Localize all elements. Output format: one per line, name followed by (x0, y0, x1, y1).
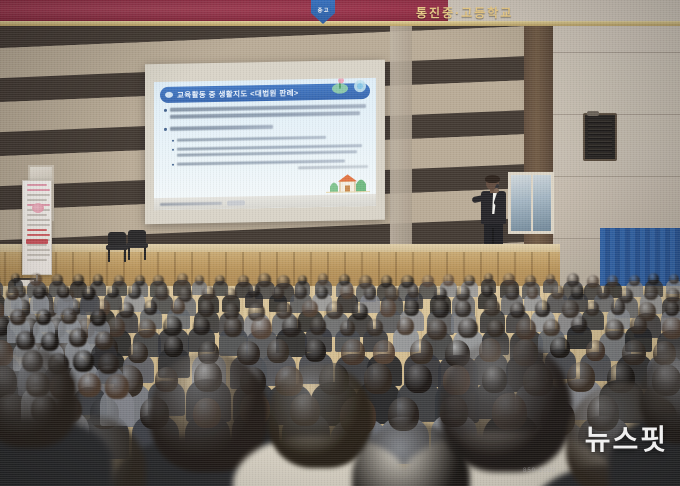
audience-member-head (36, 309, 52, 325)
audience-member-head (432, 299, 449, 317)
audience-member-head (340, 284, 354, 299)
audience-member-head (503, 273, 515, 286)
audience-member-head (326, 301, 343, 319)
audience-member-head (171, 299, 185, 314)
audience-member-head (456, 285, 471, 301)
audience-member-head (318, 273, 329, 284)
audience-member-head (114, 275, 124, 286)
audience-member-head (199, 300, 214, 317)
sub-bullet-marker-icon (172, 164, 174, 166)
audience-member-head (202, 286, 215, 300)
banner-text-line (27, 199, 47, 201)
banner-text-line (27, 229, 47, 231)
audience-member-head (302, 300, 317, 316)
press-photo: 중·고 통진중·고등학교 교육활동 중 생활지도 <대법원 판례> (0, 0, 680, 486)
audience-member-head (6, 287, 19, 301)
audience-member-head (0, 348, 78, 448)
audience-member-head (665, 301, 679, 317)
right-wall-window (508, 172, 554, 234)
audience-member-head (587, 275, 598, 287)
audience-member-head (669, 274, 679, 284)
audience-member-head (61, 308, 77, 324)
audience-member-head (155, 285, 169, 300)
banner-text-line (27, 189, 50, 191)
slide-bullet-2 (164, 123, 368, 134)
banner-text-line (27, 234, 50, 236)
audience-member-head (195, 275, 204, 285)
slide-source-note (298, 165, 368, 169)
audience-member-head (562, 300, 579, 318)
slide-header-decoration-icon (326, 78, 372, 96)
sub-bullet-marker-icon (172, 149, 174, 151)
audience-member-head (11, 273, 20, 283)
banner-text-line (27, 214, 47, 216)
slide-title-bullet-icon (165, 92, 173, 98)
audience-member-head (364, 286, 377, 300)
audience-member-head (586, 301, 600, 316)
slide-title-text: 교육활동 중 생활지도 <대법원 판례> (177, 87, 299, 100)
audience-member-head (225, 288, 237, 300)
audience-member-head (597, 285, 610, 299)
sub-bullet-marker-icon (172, 140, 174, 142)
audience-member-head (527, 286, 539, 299)
audience-member-head (52, 274, 63, 286)
banner-text-line (27, 184, 47, 186)
foreground-audience (0, 330, 680, 486)
wall-seam (553, 176, 680, 177)
bullet-marker-icon (164, 128, 167, 131)
audience-member-head (505, 285, 519, 300)
audience-member-head (611, 299, 625, 314)
audience-member-head (177, 273, 188, 285)
audience-member-head (294, 285, 307, 299)
audience-member-head (93, 274, 104, 285)
audience-member-head (144, 300, 157, 315)
audience-member-head (551, 285, 564, 299)
audience-member-head (648, 273, 659, 285)
presenter-hand (494, 188, 499, 193)
banner-flower-icon (32, 203, 44, 213)
audience-member-head (298, 275, 307, 285)
slide-canvas: 교육활동 중 생활지도 <대법원 판례> (154, 78, 376, 210)
audience-member-head (546, 274, 555, 284)
emblem-label: 중·고 (318, 9, 329, 14)
school-name-text: 통진중·고등학교 (416, 4, 513, 21)
audience-member-head (33, 286, 46, 300)
projection-screen: 교육활동 중 생활지도 <대법원 판례> (145, 60, 385, 225)
audience-member-head (571, 285, 583, 298)
audience-member-head (644, 285, 658, 300)
jacket-print-text: 850-2002 (523, 468, 556, 474)
bullet-marker-icon (164, 109, 167, 112)
audience-member-head (352, 303, 368, 321)
audience-member-head (10, 309, 26, 325)
banner-gold-rail (0, 21, 680, 26)
slide-footer-text (160, 201, 222, 205)
presenter-hair (485, 175, 500, 183)
audience-member-head (57, 285, 70, 299)
audience-member-head (482, 285, 493, 297)
audience-member-head (272, 287, 284, 300)
audience-member-head (443, 274, 454, 286)
audience-member-head (484, 299, 500, 316)
audience-member-head (316, 286, 328, 299)
slide-bullet-1 (164, 104, 368, 122)
audience-member-head (268, 364, 372, 468)
banner-text-line (27, 219, 50, 221)
audience-member-head (73, 274, 84, 286)
audience-member-head (464, 275, 475, 286)
audience-member-head (248, 284, 259, 296)
wall-seam (553, 52, 680, 53)
slide-footer-badge (227, 200, 245, 205)
wall-pillar-left (390, 18, 412, 268)
slide-sub-bullets (164, 135, 368, 172)
wall-speaker-icon (583, 113, 617, 161)
audience-member-head (408, 285, 419, 297)
audience-member-head (82, 286, 95, 300)
house-and-trees-icon (326, 170, 370, 193)
speaker-bracket (587, 111, 599, 116)
audience-member-head (510, 302, 525, 318)
audience-member-head (238, 275, 249, 287)
projected-slide: 교육활동 중 생활지도 <대법원 판례> (154, 78, 376, 210)
audience-member-head (629, 275, 640, 287)
audience-member-head (455, 300, 470, 317)
banner-text-line (27, 224, 50, 226)
banner-highlight-bar (26, 239, 48, 244)
audience-member-head (422, 275, 433, 287)
audience-member-head (380, 299, 396, 316)
audience-member-head (107, 286, 118, 298)
audience-member-head (607, 275, 618, 287)
speaker-grill (588, 120, 612, 155)
banner-text-line (27, 194, 50, 196)
slide-footer (154, 194, 376, 210)
audience-member-head (525, 275, 536, 287)
audience-member-head (258, 273, 270, 286)
audience-member-head (91, 309, 107, 325)
audience-member-head (535, 300, 550, 316)
audience-member-head (119, 302, 134, 318)
window-mullion (531, 175, 533, 231)
audience-member-head (404, 299, 419, 315)
audience-member-head (128, 284, 141, 298)
audience-member-head (484, 273, 494, 283)
